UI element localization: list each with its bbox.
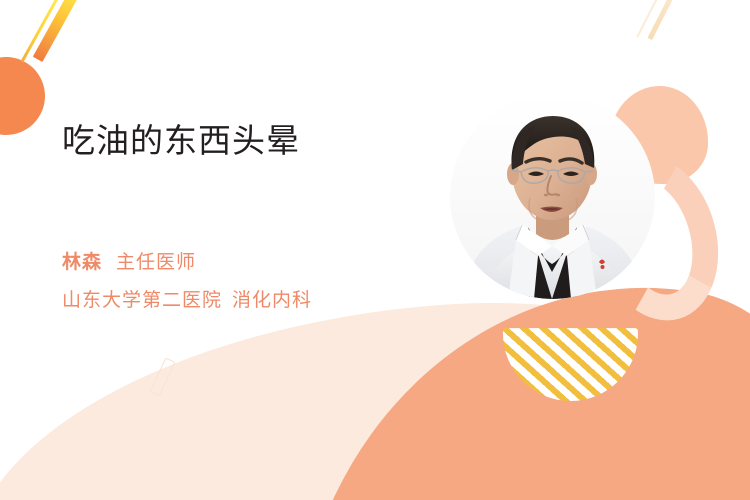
yellow-thin-stroke-icon bbox=[21, 0, 58, 62]
doctor-portrait-photo bbox=[450, 94, 655, 299]
orange-circle-shape bbox=[0, 57, 45, 135]
affiliation-line: 山东大学第二医院消化内科 bbox=[62, 288, 312, 313]
doctor-line: 林森主任医师 bbox=[62, 250, 196, 275]
faint-thin-stroke-icon bbox=[636, 0, 661, 38]
faint-thick-stroke-icon bbox=[648, 0, 678, 40]
portrait-cluster bbox=[440, 78, 730, 378]
page-title: 吃油的东西头晕 bbox=[62, 122, 300, 161]
video-cover-card: 吃油的东西头晕 林森主任医师 山东大学第二医院消化内科 bbox=[0, 0, 750, 500]
department-name: 消化内科 bbox=[232, 289, 312, 311]
orange-gradient-stroke-icon bbox=[33, 0, 78, 62]
doctor-name: 林森 bbox=[62, 251, 102, 273]
hospital-name: 山东大学第二医院 bbox=[62, 289, 222, 311]
faint-outline-stroke-icon bbox=[149, 357, 175, 396]
doctor-portrait-illustration bbox=[450, 94, 655, 299]
doctor-rank: 主任医师 bbox=[116, 251, 196, 273]
